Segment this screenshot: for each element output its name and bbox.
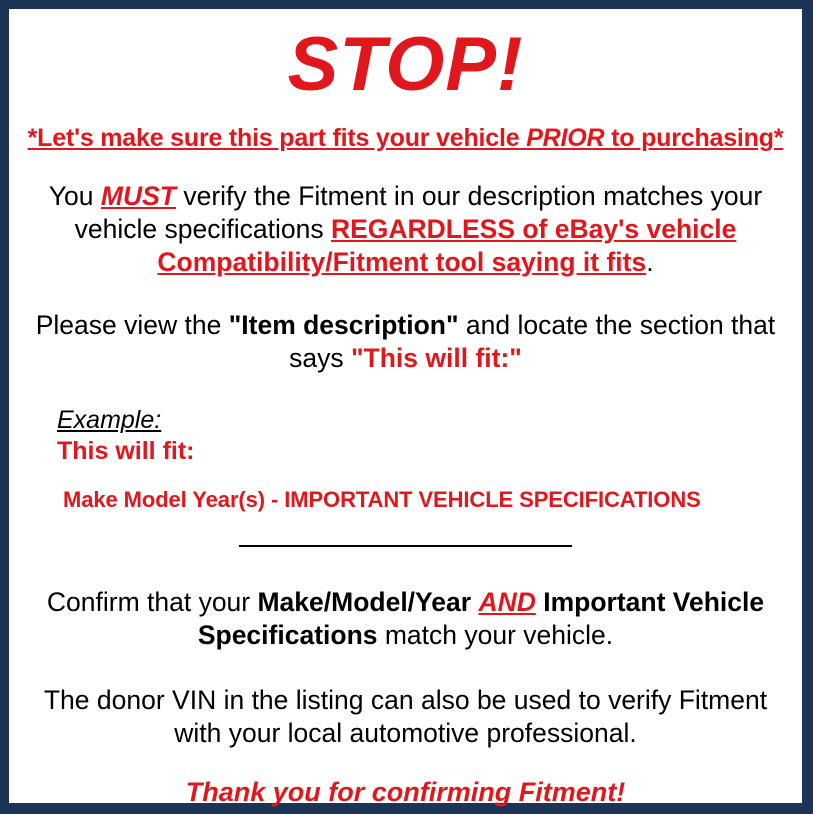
- example-label: Example:: [57, 406, 790, 434]
- and-emphasis: AND: [478, 587, 535, 617]
- divider-rule: [239, 545, 572, 547]
- must-text-lead: You: [49, 181, 101, 211]
- this-will-fit-emphasis: "This will fit:": [351, 343, 522, 373]
- paragraph-confirm-match: Confirm that your Make/Model/Year AND Im…: [26, 555, 786, 652]
- subtitle-text-lead: *Let's make sure this part fits your veh…: [28, 124, 527, 152]
- paragraph-donor-vin: The donor VIN in the listing can also be…: [26, 652, 786, 750]
- example-spec-line: Make Model Year(s) - IMPORTANT VEHICLE S…: [57, 466, 790, 513]
- confirm-text-tail: match your vehicle.: [378, 620, 614, 650]
- subtitle-verify-fitment: *Let's make sure this part fits your veh…: [21, 107, 790, 153]
- subtitle-text-tail: to purchasing*: [604, 124, 783, 152]
- view-text-lead: Please view the: [36, 310, 229, 340]
- fitment-notice-body: STOP! *Let's make sure this part fits yo…: [9, 9, 802, 803]
- example-fit-heading: This will fit:: [57, 434, 790, 466]
- page-title: STOP!: [21, 9, 790, 107]
- paragraph-view-description: Please view the "Item description" and l…: [26, 279, 786, 375]
- thank-you-line: Thank you for confirming Fitment!: [21, 750, 790, 808]
- subtitle-emphasis-prior: PRIOR: [526, 124, 604, 152]
- example-block: Example: This will fit: Make Model Year(…: [21, 375, 790, 513]
- confirm-text-lead: Confirm that your: [47, 587, 258, 617]
- must-text-tail: .: [646, 247, 653, 277]
- make-model-year-emphasis: Make/Model/Year: [257, 587, 471, 617]
- must-emphasis: MUST: [101, 181, 176, 211]
- divider: [21, 513, 790, 555]
- item-description-emphasis: "Item description": [229, 310, 459, 340]
- paragraph-must-verify: You MUST verify the Fitment in our descr…: [26, 153, 786, 279]
- fitment-notice-frame: STOP! *Let's make sure this part fits yo…: [0, 0, 813, 814]
